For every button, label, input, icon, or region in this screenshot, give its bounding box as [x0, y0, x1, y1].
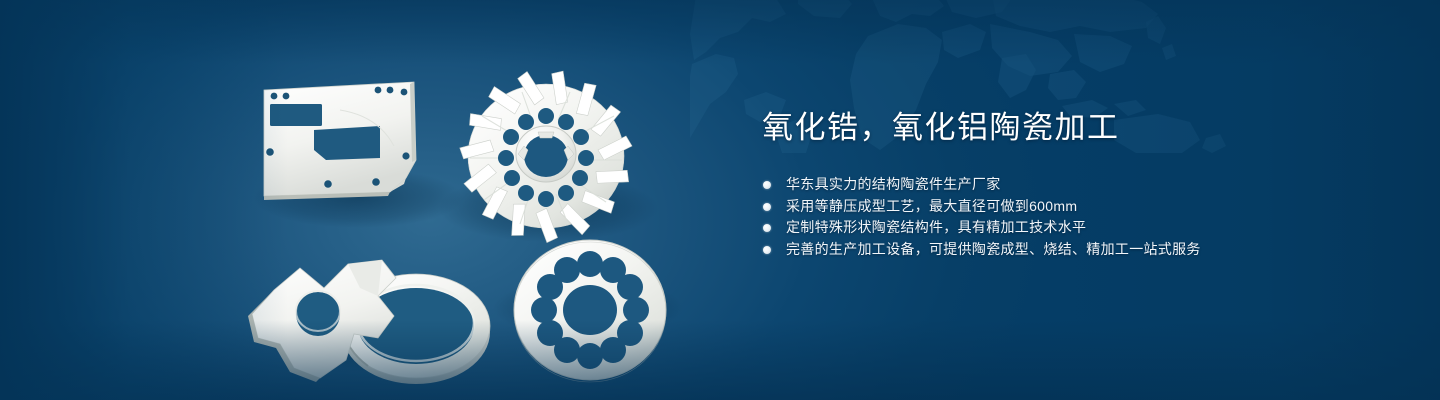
banner-copy: 氧化锆，氧化铝陶瓷加工 华东具实力的结构陶瓷件生产厂家 采用等静压成型工艺，最大…: [762, 108, 1382, 260]
list-item: 采用等静压成型工艺，最大直径可做到600mm: [762, 196, 1382, 218]
hero-banner: 氧化锆，氧化铝陶瓷加工 华东具实力的结构陶瓷件生产厂家 采用等静压成型工艺，最大…: [0, 0, 1440, 400]
bullet-dot-icon: [763, 224, 771, 232]
list-item-label: 华东具实力的结构陶瓷件生产厂家: [786, 176, 1001, 192]
list-item-label: 完善的生产加工设备，可提供陶瓷成型、烧结、精加工一站式服务: [786, 241, 1201, 257]
list-item: 华东具实力的结构陶瓷件生产厂家: [762, 174, 1382, 196]
bullet-dot-icon: [763, 246, 771, 254]
list-item-label: 定制特殊形状陶瓷结构件，具有精加工技术水平: [786, 219, 1086, 235]
list-item-label: 采用等静压成型工艺，最大直径可做到600mm: [786, 198, 1077, 214]
bullet-dot-icon: [763, 181, 771, 189]
bullet-dot-icon: [763, 203, 771, 211]
list-item: 定制特殊形状陶瓷结构件，具有精加工技术水平: [762, 217, 1382, 239]
feature-list: 华东具实力的结构陶瓷件生产厂家 采用等静压成型工艺，最大直径可做到600mm 定…: [762, 174, 1382, 260]
list-item: 完善的生产加工设备，可提供陶瓷成型、烧结、精加工一站式服务: [762, 239, 1382, 261]
page-title: 氧化锆，氧化铝陶瓷加工: [762, 108, 1382, 148]
